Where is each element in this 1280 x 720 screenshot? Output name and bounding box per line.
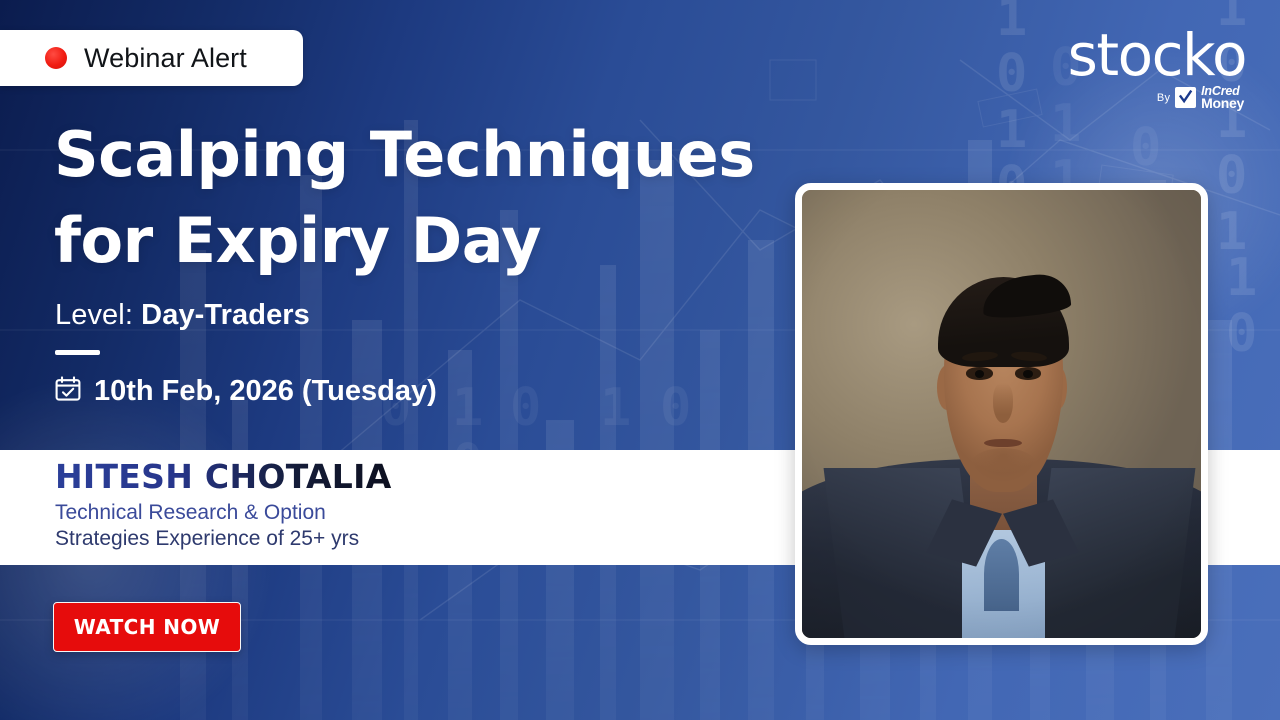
level-row: Level: Day-Traders <box>55 299 310 332</box>
checkbox-check-icon <box>1175 87 1196 108</box>
stocko-logo[interactable]: stocko By InCred Money <box>1068 26 1246 109</box>
webinar-banner: 1 0 1 0 1 0 0 1 1 0 1 0 1 0 1 0 1 0 1 1 … <box>0 0 1280 720</box>
speaker-portrait <box>802 190 1201 638</box>
webinar-alert-label: Webinar Alert <box>84 43 247 74</box>
logo-by-label: By <box>1157 92 1170 104</box>
webinar-alert-badge: Webinar Alert <box>0 30 303 86</box>
speaker-name: HITESH CHOTALIA <box>55 457 392 496</box>
speaker-role-line-1: Technical Research & Option <box>55 500 359 526</box>
portrait-vignette <box>802 190 1201 638</box>
webinar-date-row: 10th Feb, 2026 (Tuesday) <box>55 375 437 408</box>
webinar-date-label: 10th Feb, 2026 (Tuesday) <box>94 375 437 408</box>
watch-now-label: WATCH NOW <box>74 615 221 639</box>
incred-money-wordmark: InCred Money <box>1201 86 1244 109</box>
title-line-2: for Expiry Day <box>54 198 755 284</box>
logo-wordmark: stocko <box>1068 26 1246 84</box>
logo-byline: By InCred Money <box>1068 86 1244 109</box>
watch-now-button[interactable]: WATCH NOW <box>53 602 241 652</box>
speaker-role: Technical Research & Option Strategies E… <box>55 500 359 552</box>
title-line-1: Scalping Techniques <box>54 112 755 198</box>
red-dot-icon <box>45 47 67 69</box>
calendar-check-icon <box>55 376 81 407</box>
level-prefix: Level: <box>55 299 133 331</box>
divider-rule <box>55 350 100 355</box>
speaker-photo-frame <box>795 183 1208 645</box>
webinar-title: Scalping Techniques for Expiry Day <box>54 112 755 284</box>
money-label: Money <box>1201 98 1244 110</box>
level-value: Day-Traders <box>141 299 310 331</box>
speaker-role-line-2: Strategies Experience of 25+ yrs <box>55 526 359 552</box>
